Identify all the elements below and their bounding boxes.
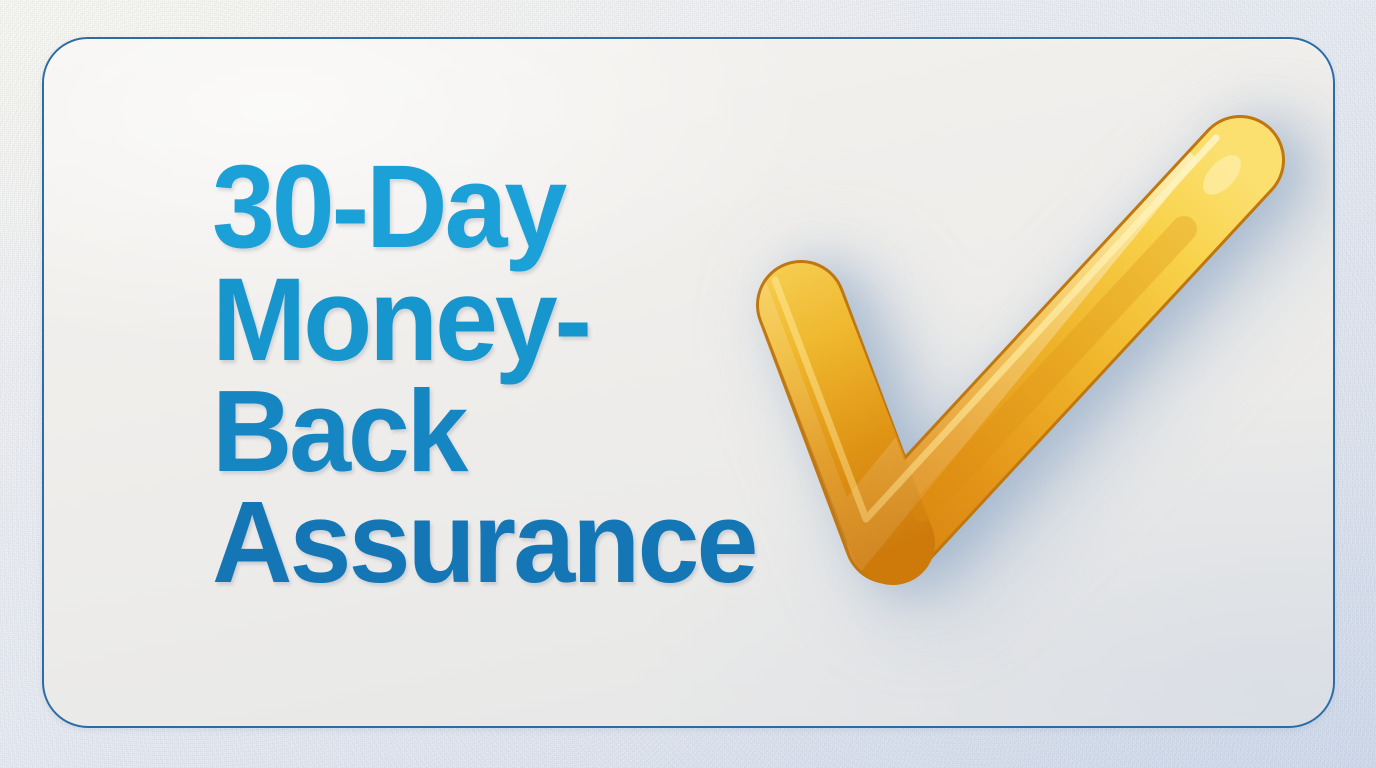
headline-line-3: Back (212, 376, 942, 487)
screenshot-stage: 30-Day Money- Back Assurance (0, 0, 1376, 768)
headline-line-1: 30-Day (212, 151, 942, 264)
checkmark-specular-highlight (1196, 149, 1248, 202)
headline-line-4: Assurance (212, 487, 942, 598)
headline-line-2: Money- (212, 264, 942, 377)
headline-block: 30-Day Money- Back Assurance (212, 151, 972, 598)
rounded-card-panel: 30-Day Money- Back Assurance (42, 37, 1335, 728)
